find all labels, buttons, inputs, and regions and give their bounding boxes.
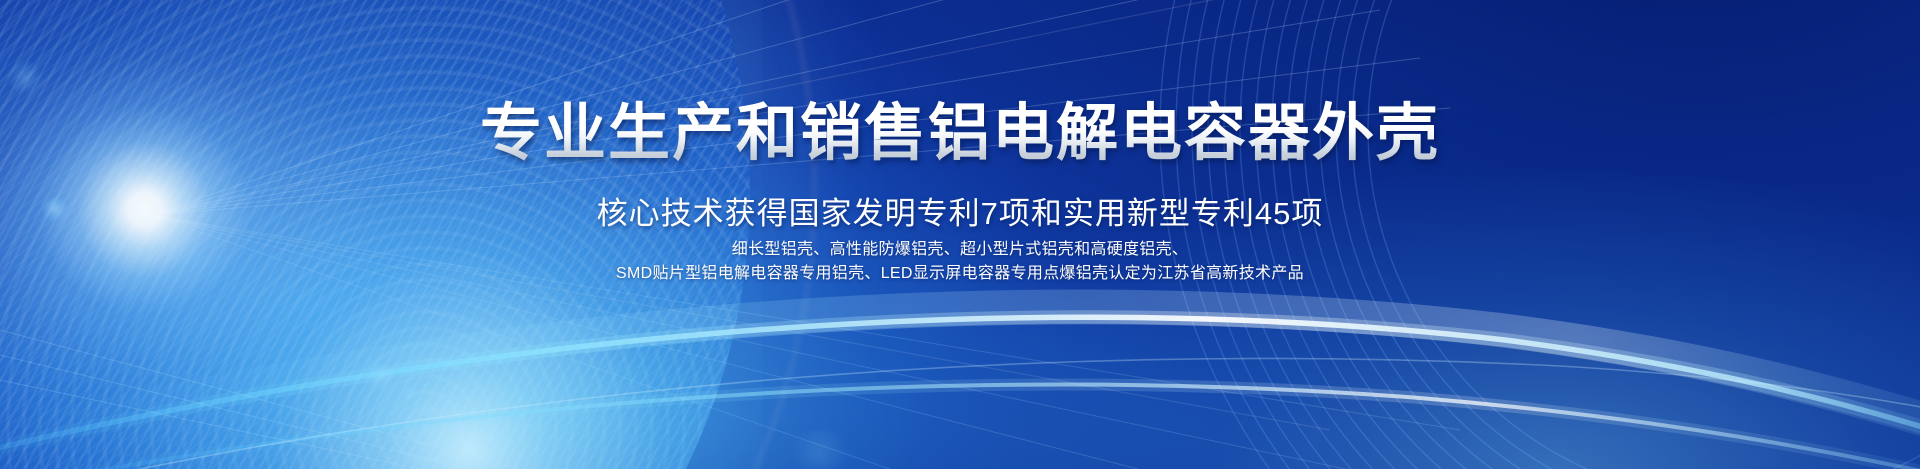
banner-content: 专业生产和销售铝电解电容器外壳 核心技术获得国家发明专利7项和实用新型专利45项… (0, 0, 1920, 469)
detail-line-1: 细长型铝壳、高性能防爆铝壳、超小型片式铝壳和高硬度铝壳、 (0, 238, 1920, 262)
banner-subtitle: 核心技术获得国家发明专利7项和实用新型专利45项 (0, 188, 1920, 233)
banner-detail-lines: 细长型铝壳、高性能防爆铝壳、超小型片式铝壳和高硬度铝壳、 SMD贴片型铝电解电容… (0, 238, 1920, 286)
banner-title: 专业生产和销售铝电解电容器外壳 (0, 97, 1920, 170)
detail-line-2: SMD贴片型铝电解电容器专用铝壳、LED显示屏电容器专用点爆铝壳认定为江苏省高新… (0, 262, 1920, 286)
promo-banner: 专业生产和销售铝电解电容器外壳 核心技术获得国家发明专利7项和实用新型专利45项… (0, 0, 1920, 469)
